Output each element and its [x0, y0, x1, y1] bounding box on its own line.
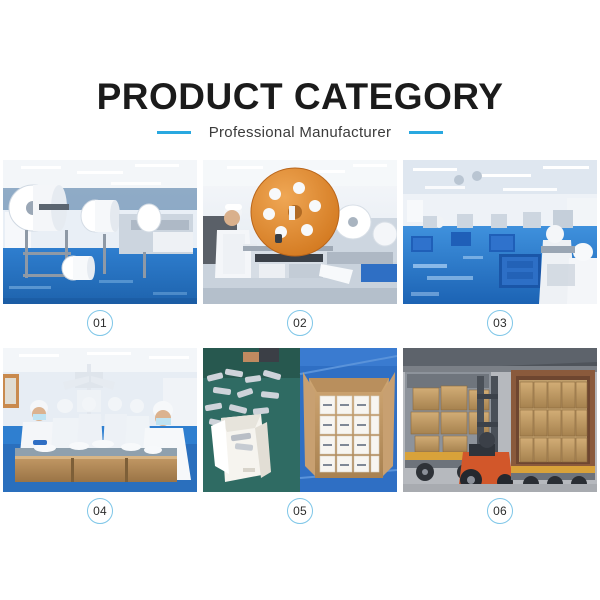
- forklift-loading-shipping-container-illustration: [403, 348, 597, 492]
- thumbnail-forklift-loading-shipping-container[interactable]: [403, 348, 597, 492]
- gallery-item[interactable]: 01: [3, 160, 197, 342]
- manual-inspection-packing-table-illustration: [3, 348, 197, 492]
- badge-wrap: 04: [3, 492, 197, 530]
- rule-right-decoration: [409, 131, 443, 134]
- item-number-badge: 04: [87, 498, 113, 524]
- item-number-badge: 03: [487, 310, 513, 336]
- badge-wrap: 06: [403, 492, 597, 530]
- thumbnail-operator-with-orange-reel-machine[interactable]: [203, 160, 397, 304]
- badge-wrap: 02: [203, 304, 397, 342]
- thumbnail-nonwoven-roll-production-line[interactable]: [3, 160, 197, 304]
- gallery-item[interactable]: 03: [403, 160, 597, 342]
- product-gallery-grid: 01: [3, 160, 597, 530]
- inner-box-and-carton-packing-illustration: [203, 348, 397, 492]
- thumbnail-manual-inspection-packing-table[interactable]: [3, 348, 197, 492]
- gallery-item[interactable]: 02: [203, 160, 397, 342]
- nonwoven-roll-production-line-illustration: [3, 160, 197, 304]
- gallery-item[interactable]: 05: [203, 348, 397, 530]
- page-subtitle: Professional Manufacturer: [209, 124, 392, 141]
- item-number-badge: 06: [487, 498, 513, 524]
- page-header: PRODUCT CATEGORY Professional Manufactur…: [0, 0, 600, 155]
- item-number-badge: 05: [287, 498, 313, 524]
- product-category-page: PRODUCT CATEGORY Professional Manufactur…: [0, 0, 600, 600]
- page-title: PRODUCT CATEGORY: [0, 76, 600, 118]
- gallery-item[interactable]: 06: [403, 348, 597, 530]
- gallery-item[interactable]: 04: [3, 348, 197, 530]
- thumbnail-inner-box-and-carton-packing[interactable]: [203, 348, 397, 492]
- badge-wrap: 01: [3, 304, 197, 342]
- cleanroom-workshop-wide-view-illustration: [403, 160, 597, 304]
- item-number-badge: 02: [287, 310, 313, 336]
- item-number-badge: 01: [87, 310, 113, 336]
- badge-wrap: 03: [403, 304, 597, 342]
- subtitle-row: Professional Manufacturer: [0, 124, 600, 141]
- operator-with-orange-reel-machine-illustration: [203, 160, 397, 304]
- badge-wrap: 05: [203, 492, 397, 530]
- thumbnail-cleanroom-workshop-wide-view[interactable]: [403, 160, 597, 304]
- rule-left-decoration: [157, 131, 191, 134]
